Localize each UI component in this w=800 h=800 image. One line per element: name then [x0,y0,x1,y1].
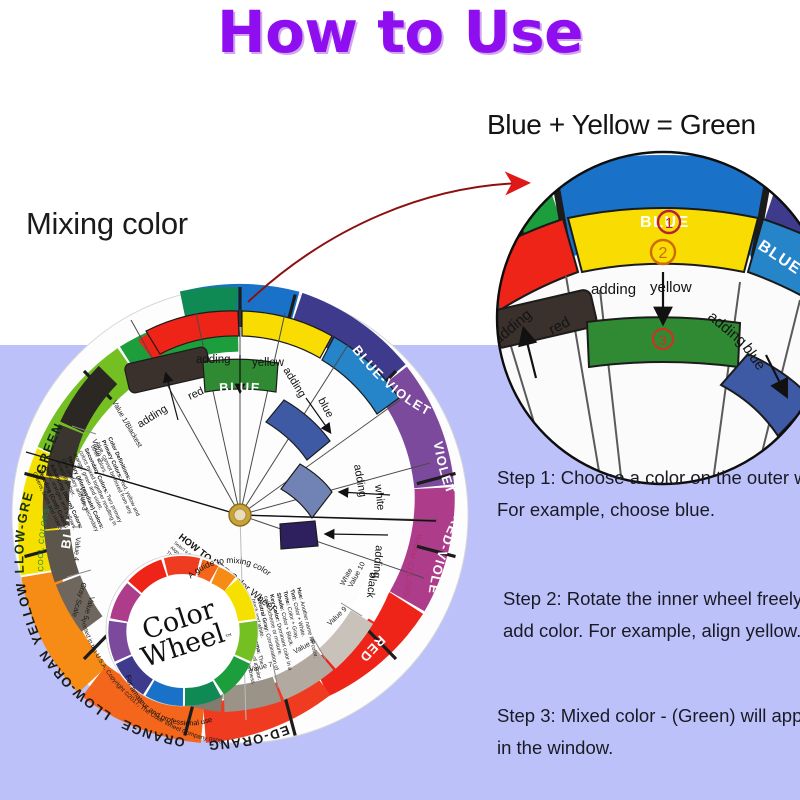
step-1: Step 1: Choose a color on the outer whee… [497,462,800,527]
mixing-color-label: Mixing color [26,206,188,242]
color-wheel-main[interactable]: BLUE BLUE-GREEN GREEN YELLOW-GREEN YELLO… [0,0,468,753]
callout-arrow [248,183,525,302]
page-title: How to Use [0,0,800,66]
svg-text:yellow: yellow [252,357,285,369]
svg-text:1: 1 [665,215,673,232]
step-3-line-2: in the window. [497,732,800,764]
step-2: Step 2: Rotate the inner wheel freely to… [503,583,800,648]
screenshot-root: BLUE BLUE-GREEN GREEN YELLOW-GREEN YELLO… [0,0,800,800]
step-2-line-1: Step 2: Rotate the inner wheel freely to [503,583,800,615]
step-3: Step 3: Mixed color - (Green) will appre… [497,700,800,765]
svg-text:yellow: yellow [650,279,692,296]
svg-text:adding: adding [196,354,231,366]
step-2-line-2: add color. For example, align yellow. [503,615,800,647]
step-3-line-1: Step 3: Mixed color - (Green) will appre… [497,700,800,732]
mix-window-black [280,521,318,549]
svg-text:adding: adding [591,281,636,298]
svg-text:3: 3 [659,332,667,348]
equation-label: Blue + Yellow = Green [487,109,756,141]
svg-text:BLUE: BLUE [219,379,262,395]
center-rivet[interactable] [229,504,251,526]
step-1-line-2: For example, choose blue. [497,494,800,526]
svg-text:2: 2 [659,245,668,262]
step-1-line-1: Step 1: Choose a color on the outer whee… [497,462,800,494]
